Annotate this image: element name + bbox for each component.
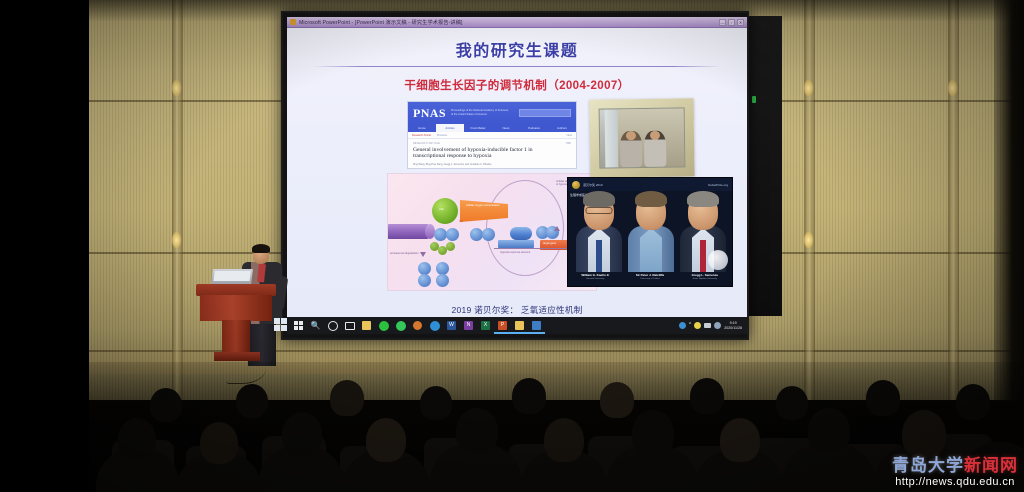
pathway-label-hre: hypoxia response element: [500, 251, 530, 254]
laureate-name-row: William G. Kaelin Jr Harvard University …: [568, 272, 732, 286]
pnas-section-label: RESEARCH ARTICLE: [413, 142, 571, 145]
side-display-panel: [746, 16, 782, 316]
watermark-url: http://news.qdu.edu.cn: [892, 477, 1018, 488]
powerpoint-icon: [290, 19, 296, 25]
notes-icon[interactable]: [511, 317, 528, 334]
tray-app-icon[interactable]: [679, 322, 686, 329]
laureate-2-affil: University of Oxford: [623, 278, 678, 281]
network-icon[interactable]: [704, 323, 711, 328]
projection-screen: Microsoft PowerPoint - [PowerPoint 演示文稿 …: [281, 11, 749, 340]
laureate-label-1: William G. Kaelin Jr Harvard University: [568, 272, 623, 286]
pnas-nav-authors: Authors: [548, 124, 576, 132]
powerpoint-window[interactable]: Microsoft PowerPoint - [PowerPoint 演示文稿 …: [287, 17, 747, 317]
laureate-portrait-1: [576, 194, 622, 272]
word-icon[interactable]: W: [443, 317, 460, 334]
pathway-label-degradation: proteasomal degradation: [390, 252, 419, 255]
slide-title: 我的研究生课题: [287, 28, 747, 61]
degraded-fragment-3: [418, 274, 431, 287]
laureate-label-3: Gregg L. Semenza Johns Hopkins Universit…: [677, 272, 732, 286]
window-title: Microsoft PowerPoint - [PowerPoint 演示文稿 …: [299, 19, 719, 26]
task-view-icon[interactable]: [341, 317, 358, 334]
hif-arnt-dimer-icon: [510, 227, 532, 240]
powerpoint-taskbar-icon[interactable]: P: [494, 317, 511, 334]
pnas-pdf-link: PDF: [566, 142, 571, 145]
hif-subunit-icon-4: [482, 228, 495, 241]
laureate-3-affil: Johns Hopkins University: [677, 278, 732, 281]
pnas-nav: Home Articles Front Matter News Podcasts…: [408, 124, 576, 132]
photo-inner: [599, 107, 686, 168]
pnas-nav-news: News: [492, 124, 520, 132]
search-icon[interactable]: 🔍: [307, 317, 324, 334]
pnas-nav-articles: Articles: [436, 124, 464, 132]
status-led-icon: [752, 96, 756, 103]
pnas-article-screenshot: PNAS Proceedings of the National Academy…: [407, 101, 577, 169]
nobel-prize-photo: 诺贝尔奖 2019 NobelPrize.org 生理学或医学奖: [567, 177, 733, 287]
pnas-header: PNAS Proceedings of the National Academy…: [408, 102, 576, 124]
excel-icon[interactable]: X: [477, 317, 494, 334]
system-tray[interactable]: ^ 9:19 2020/11/28: [679, 321, 744, 331]
podium-body: [200, 295, 272, 321]
laureate-portrait-2: [628, 194, 674, 272]
folder-icon[interactable]: [358, 317, 375, 334]
nobel-header-left: 诺贝尔奖 2019: [583, 183, 603, 187]
pathway-arrow-up: [554, 226, 560, 231]
title-divider: [313, 66, 721, 67]
wechat-icon[interactable]: [375, 317, 392, 334]
degraded-fragment-4: [436, 274, 449, 287]
proteasome-shape: [387, 224, 430, 239]
watermark-news: 新闻网: [964, 456, 1018, 475]
taskbar-clock[interactable]: 9:19 2020/11/28: [724, 321, 742, 331]
slide-canvas[interactable]: 我的研究生课题 干细胞生长因子的调节机制（2004-2007） PNAS Pro…: [287, 28, 747, 317]
qq-icon[interactable]: [392, 317, 409, 334]
right-wall-shadow: [994, 0, 1024, 400]
clock-date: 2020/11/28: [724, 326, 742, 331]
pnas-nav-podcasts: Podcasts: [520, 124, 548, 132]
laureate-label-2: Sir Peter J. Ratcliffe University of Oxf…: [623, 272, 678, 286]
pathway-arrow-degradation: [420, 252, 426, 257]
powerpoint-titlebar[interactable]: Microsoft PowerPoint - [PowerPoint 演示文稿 …: [287, 17, 747, 28]
speaker-hair: [252, 244, 270, 253]
seewo-icon[interactable]: [409, 317, 426, 334]
pathway-label-target-gene: target gene: [543, 242, 556, 245]
windows-logo-icon: [274, 318, 287, 331]
hif-pathway-diagram: proteasomal degradation VHL cellular oxy…: [387, 173, 597, 291]
pnas-logo: PNAS: [413, 107, 446, 119]
chevron-up-icon[interactable]: ^: [689, 323, 691, 328]
pathway-label-oxygen: cellular oxygen concentration: [466, 204, 500, 207]
pnas-search-input: [519, 109, 571, 117]
windows-taskbar[interactable]: 🔍 W N X P ^ 9:19 2020/11/28: [287, 317, 747, 334]
pnas-logo-subtitle: Proceedings of the National Academy of S…: [451, 109, 509, 117]
vhl-node-icon: [432, 198, 458, 224]
pathway-label-vhl: VHL: [439, 208, 444, 211]
breadcrumb-previous: Previous: [437, 134, 447, 137]
nobel-medal-icon: [572, 181, 580, 189]
pathway-label-oh: OH: [459, 220, 463, 223]
slide-content-area: PNAS Proceedings of the National Academy…: [287, 99, 747, 314]
pnas-breadcrumb: Research Article Previous Next: [408, 132, 576, 139]
minimize-button[interactable]: —: [719, 19, 726, 26]
pnas-article-body: RESEARCH ARTICLE General involvement of …: [408, 139, 576, 167]
pnas-article-title: General involvement of hypoxia-inducible…: [413, 147, 539, 161]
hre-element-bar: [498, 240, 534, 248]
framed-photo: [589, 98, 694, 177]
pnas-authors: Ping Wang, Bing-Hua Jiang, Gregg L. Seme…: [413, 163, 571, 167]
slide-subtitle: 干细胞生长因子的调节机制（2004-2007）: [287, 77, 747, 93]
watermark-university: 青岛大学: [892, 456, 964, 475]
nobel-photo-header: 诺贝尔奖 2019 NobelPrize.org: [568, 178, 732, 191]
nobel-header-right: NobelPrize.org: [708, 183, 728, 187]
podium-column: [222, 320, 250, 354]
shield-icon[interactable]: [694, 322, 701, 329]
ubiquitin-icon-3: [446, 242, 455, 251]
close-button[interactable]: ✕: [737, 19, 744, 26]
volume-icon[interactable]: [714, 322, 721, 329]
breadcrumb-next: Next: [567, 134, 572, 137]
cortana-icon[interactable]: [324, 317, 341, 334]
video-icon[interactable]: [528, 317, 545, 334]
laureate-1-affil: Harvard University: [568, 278, 623, 281]
photo-person-left: [620, 131, 642, 167]
left-letterbox: [0, 0, 89, 492]
pnas-nav-front-matter: Front Matter: [464, 124, 492, 132]
nobel-logo-watermark: [708, 250, 728, 270]
nobel-caption: 2019 诺贝尔奖： 乏氧适应性机制: [287, 304, 747, 316]
audience-area: [0, 362, 1024, 492]
start-button[interactable]: [290, 317, 307, 334]
podium-laptop: [211, 269, 253, 285]
hif-subunit-icon-2: [446, 228, 459, 241]
maximize-button[interactable]: ▫: [728, 19, 735, 26]
news-site-watermark: 青岛大学新闻网 http://news.qdu.edu.cn: [892, 457, 1018, 488]
breadcrumb-research-article: Research Article: [412, 134, 431, 137]
onenote-icon[interactable]: N: [460, 317, 477, 334]
pnas-nav-home: Home: [408, 124, 436, 132]
browser-icon[interactable]: [426, 317, 443, 334]
lecture-hall-scene: Microsoft PowerPoint - [PowerPoint 演示文稿 …: [0, 0, 1024, 492]
photo-person-right: [644, 131, 666, 167]
